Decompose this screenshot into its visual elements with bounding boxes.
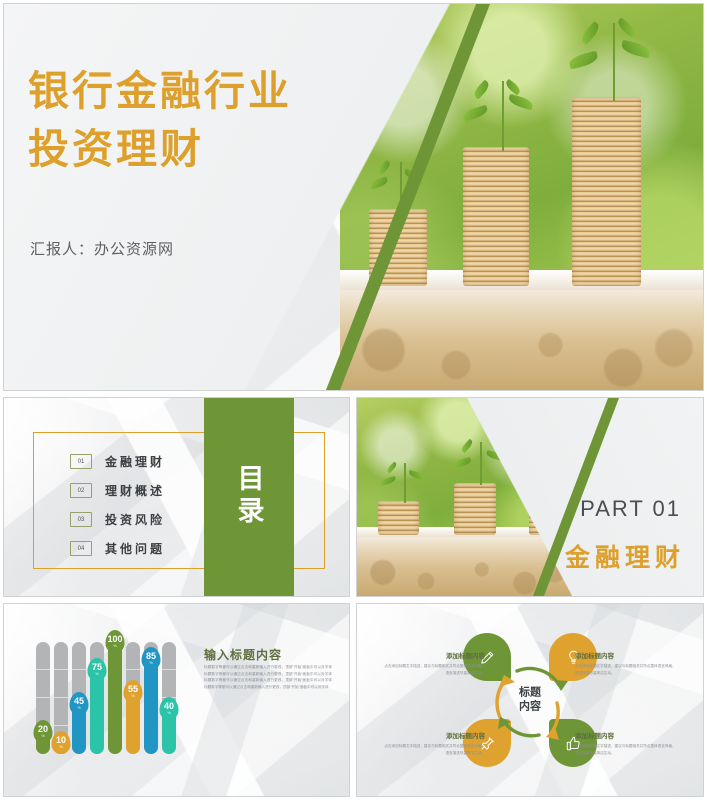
bar-value-bubble: 85% <box>142 647 161 670</box>
cycle-label-body: 点击添加标题文字描述，建议与标题相关并符合整体语言风格，语言描述尽量简洁生动。 <box>381 743 485 757</box>
bar-value-bubble: 20% <box>34 720 53 743</box>
toc-number-badge: 04 <box>70 541 92 556</box>
bar-gridline <box>36 669 50 670</box>
toc-vertical-heading: 目录 <box>214 426 284 566</box>
bar-fill: 45% <box>72 704 86 754</box>
center-line-1: 标题 <box>502 686 558 700</box>
bar-track: 85% <box>144 642 158 754</box>
bar-gridline <box>126 669 140 670</box>
bar-fill: 55% <box>126 692 140 754</box>
toc-number-badge: 01 <box>70 454 92 469</box>
bar-unit: % <box>167 711 171 715</box>
title-line-1: 银行金融行业 <box>28 62 292 120</box>
cycle-hub: 标题 内容 <box>471 641 589 759</box>
bar-track: 75% <box>90 642 104 754</box>
presenter-label: 汇报人：办公资源网 <box>30 238 174 259</box>
toc-item-label: 金融理财 <box>105 453 165 470</box>
bar-gridline <box>54 669 68 670</box>
bar-chart: 20%10%45%75%100%55%85%40% <box>36 642 186 754</box>
bar-fill: 85% <box>144 659 158 754</box>
bar-value-bubble: 45% <box>70 692 89 715</box>
cycle-center-label: 标题 内容 <box>502 686 558 714</box>
bar-value-bubble: 75% <box>88 658 107 681</box>
bar-fill: 100% <box>108 642 122 754</box>
cycle-label-heading: 添加标题内容 <box>575 650 679 660</box>
section-title: 金融理财 <box>565 538 685 574</box>
cycle-label-1: 添加标题内容 点击添加标题文字描述，建议与标题相关并符合整体语言风格，语言描述尽… <box>381 650 485 677</box>
ppt-template-preview: 银行金融行业 投资理财 汇报人：办公资源网 01 金融理财 02 理财概述 <box>0 0 707 800</box>
cycle-label-heading: 添加标题内容 <box>575 730 679 740</box>
bar-unit: % <box>113 644 117 648</box>
slide-cycle-diagram[interactable]: 标题 内容 添加标题内容 点击添加标题文字描述，建议与标题相关并符合整体语言风格… <box>357 604 703 796</box>
slide-table-of-contents[interactable]: 01 金融理财 02 理财概述 03 投资风险 04 其他问题 目录 <box>4 398 349 596</box>
cycle-label-4: 添加标题内容 点击添加标题文字描述，建议与标题相关并符合整体语言风格，语言描述尽… <box>575 730 679 757</box>
toc-item-label: 投资风险 <box>105 511 165 528</box>
bar-fill: 20% <box>36 732 50 754</box>
list-item[interactable]: 02 理财概述 <box>70 478 165 503</box>
section-part-label: PART 01 <box>580 496 681 522</box>
cycle-label-heading: 添加标题内容 <box>381 730 485 740</box>
bar-unit: % <box>77 706 81 710</box>
bar-gridline <box>54 697 68 698</box>
toc-item-label: 理财概述 <box>105 482 165 499</box>
cycle-label-3: 添加标题内容 点击添加标题文字描述，建议与标题相关并符合整体语言风格，语言描述尽… <box>381 730 485 757</box>
bar-gridline <box>54 725 68 726</box>
bar-track: 20% <box>36 642 50 754</box>
bar-value-bubble: 40% <box>160 697 179 720</box>
list-item[interactable]: 04 其他问题 <box>70 536 165 561</box>
slide-section-divider[interactable]: PART 01 金融理财 <box>357 398 703 596</box>
bar-value-bubble: 100% <box>106 630 125 653</box>
cycle-label-2: 添加标题内容 点击添加标题文字描述，建议与标题相关并符合整体语言风格，语言描述尽… <box>575 650 679 677</box>
bar-unit: % <box>149 661 153 665</box>
list-item[interactable]: 01 金融理财 <box>70 449 165 474</box>
slide-title[interactable]: 银行金融行业 投资理财 汇报人：办公资源网 <box>4 4 703 390</box>
bar-gridline <box>72 669 86 670</box>
title-line-2: 投资理财 <box>28 120 292 178</box>
toc-number-badge: 02 <box>70 483 92 498</box>
bar-fill: 75% <box>90 670 104 754</box>
page-title: 银行金融行业 投资理财 <box>28 62 292 178</box>
bar-value-bubble: 10% <box>52 731 71 754</box>
bar-value-bubble: 55% <box>124 680 143 703</box>
bar-gridline <box>162 669 176 670</box>
list-item[interactable]: 03 投资风险 <box>70 507 165 532</box>
toc-list: 01 金融理财 02 理财概述 03 投资风险 04 其他问题 <box>70 449 165 565</box>
bar-track: 40% <box>162 642 176 754</box>
bar-track: 45% <box>72 642 86 754</box>
toc-item-label: 其他问题 <box>105 540 165 557</box>
chart-heading: 输入标题内容 <box>204 646 282 663</box>
bar-fill: 10% <box>54 743 68 754</box>
bar-track: 10% <box>54 642 68 754</box>
toc-number-badge: 03 <box>70 512 92 527</box>
slide-bar-chart[interactable]: 20%10%45%75%100%55%85%40% 输入标题内容 标题数字等都可… <box>4 604 349 796</box>
bar-unit: % <box>59 745 63 749</box>
cycle-label-body: 点击添加标题文字描述，建议与标题相关并符合整体语言风格，语言描述尽量简洁生动。 <box>381 663 485 677</box>
bar-gridline <box>36 697 50 698</box>
cycle-label-body: 点击添加标题文字描述，建议与标题相关并符合整体语言风格，语言描述尽量简洁生动。 <box>575 743 679 757</box>
center-line-2: 内容 <box>502 700 558 714</box>
cycle-label-heading: 添加标题内容 <box>381 650 485 660</box>
bar-unit: % <box>131 694 135 698</box>
bar-track: 55% <box>126 642 140 754</box>
bar-unit: % <box>41 734 45 738</box>
chart-body-text: 标题数字等都可以通过点击和重新输入进行更改，顶部“开始”面板中可以对字体标题数字… <box>204 664 332 691</box>
bar-track: 100% <box>108 642 122 754</box>
bar-unit: % <box>95 672 99 676</box>
cycle-label-body: 点击添加标题文字描述，建议与标题相关并符合整体语言风格，语言描述尽量简洁生动。 <box>575 663 679 677</box>
bar-fill: 40% <box>162 709 176 754</box>
